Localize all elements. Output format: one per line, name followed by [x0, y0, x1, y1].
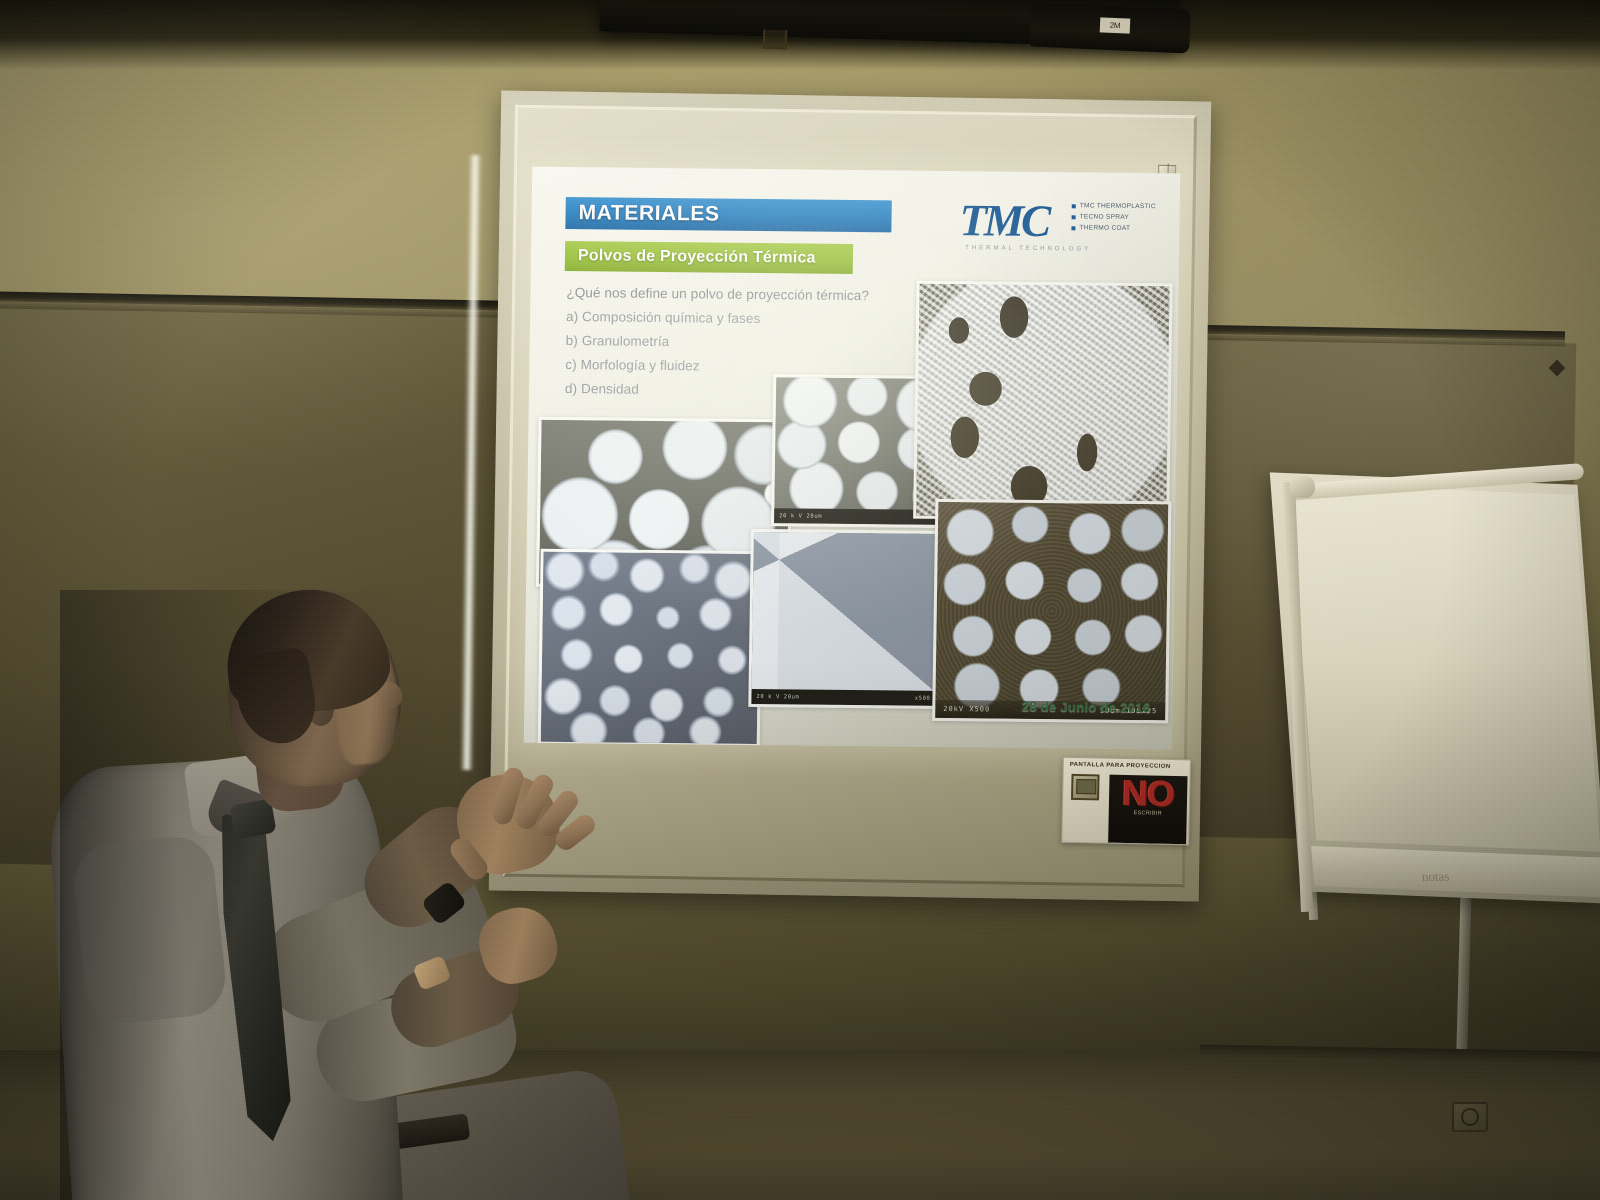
projected-slide[interactable]: MATERIALES Polvos de Proyección Térmica …	[524, 167, 1181, 750]
sem-micrograph-angular-particles: 20 k V 20um x500	[748, 529, 941, 709]
slide-subtitle-bar: Polvos de Proyección Térmica	[565, 241, 853, 274]
tmc-brand-line-text: THERMO COAT	[1079, 224, 1130, 232]
tmc-logo-brand-lines: TMC THERMOPLASTIC TECNO SPRAY THERMO COA…	[1071, 202, 1156, 232]
tmc-brand-line-text: TECNO SPRAY	[1080, 213, 1130, 221]
warning-sign-no-block: NO ESCRIBIR	[1108, 775, 1187, 845]
slide-bullet-b: b) Granulometría	[566, 333, 896, 351]
photo-scene: 2M MATERIALES Polvos de Proyección Térmi…	[0, 0, 1600, 1200]
bullet-square-icon	[1072, 215, 1076, 219]
warning-sign-no-writing: PANTALLA PARA PROYECCION NO ESCRIBIR	[1061, 757, 1191, 846]
slide-date: 28 de Junio de 2016	[1022, 699, 1151, 715]
tmc-logo-tagline: THERMAL TECHNOLOGY	[965, 245, 1091, 252]
flipchart-marker-tray	[1311, 846, 1600, 898]
tmc-logo-mark: TMC	[959, 197, 1048, 244]
screen-pictogram-icon	[1071, 774, 1100, 801]
sem-magnification: x500	[915, 695, 931, 701]
sem-scale-text-left: 20kV X500	[943, 705, 990, 713]
tmc-logo: TMC THERMAL TECHNOLOGY TMC THERMOPLASTIC…	[959, 197, 1160, 261]
flipchart-board: notas	[1270, 472, 1600, 903]
sem-scale-text: 20 k V 20um	[756, 694, 799, 700]
sem-image-content	[916, 284, 1169, 519]
sem-image-content	[935, 502, 1168, 720]
sem-micrograph-agglomerates: 20kV X500 50um 190225	[932, 499, 1171, 723]
sem-micrograph-cross-section	[913, 281, 1173, 522]
warning-sign-sub-text: ESCRIBIR	[1133, 810, 1162, 817]
flipchart-easel[interactable]: notas	[1262, 470, 1600, 1030]
warning-sign-heading: PANTALLA PARA PROYECCION	[1070, 762, 1186, 770]
flipchart-scribble-text: notas	[1421, 869, 1450, 885]
sem-scale-text: 20 k V 20um	[779, 513, 822, 519]
screen-hook-icon	[763, 30, 788, 50]
power-socket-icon	[1452, 1102, 1488, 1132]
projector-case-label: 2M	[1100, 17, 1131, 33]
bullet-square-icon	[1072, 204, 1076, 208]
tmc-brand-line-text: TMC THERMOPLASTIC	[1080, 202, 1156, 210]
flipchart-leg-knob	[1289, 476, 1315, 498]
slide-question: ¿Qué nos define un polvo de proyección t…	[566, 285, 896, 303]
tmc-brand-line: TECNO SPRAY	[1072, 213, 1156, 221]
presenter-person	[60, 590, 620, 1200]
sem-info-bar: 20 k V 20um x500	[751, 689, 935, 706]
flipchart-paper-sheet	[1289, 483, 1600, 852]
sem-image-content	[751, 532, 938, 706]
slide-subtitle: Polvos de Proyección Térmica	[565, 247, 816, 268]
slide-bullet-a: a) Composición química y fases	[566, 309, 896, 327]
shirt-sleeve-fold	[71, 833, 229, 1027]
bullet-square-icon	[1071, 226, 1075, 230]
slide-title-bar: MATERIALES	[565, 197, 891, 232]
tmc-brand-line: THERMO COAT	[1071, 224, 1155, 232]
slide-bullet-c: c) Morfología y fluidez	[565, 357, 895, 375]
tmc-brand-line: TMC THERMOPLASTIC	[1072, 202, 1156, 210]
warning-sign-no-text: NO	[1122, 776, 1175, 811]
slide-title: MATERIALES	[565, 201, 719, 227]
